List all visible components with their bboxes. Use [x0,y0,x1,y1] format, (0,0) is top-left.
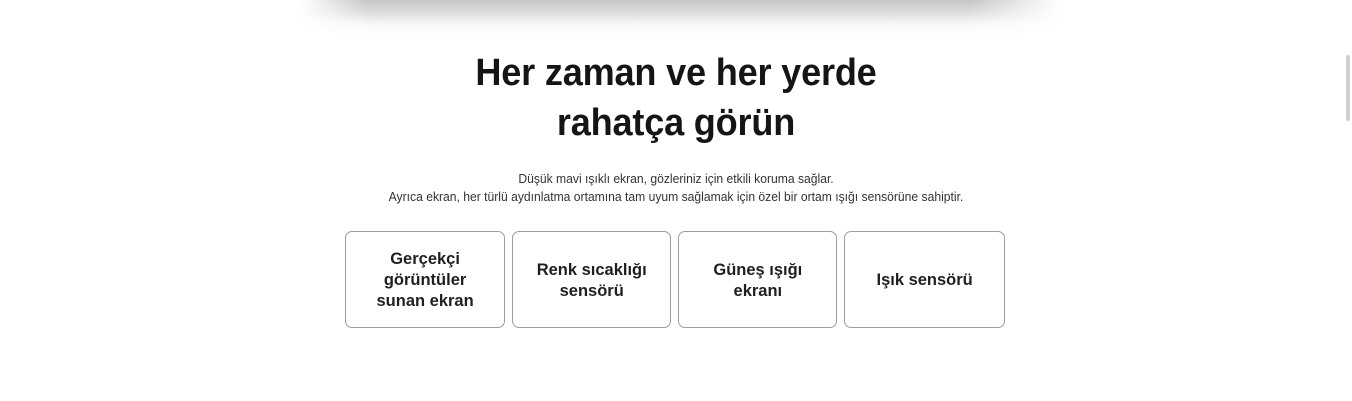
headline-line-2: rahatça görün [34,98,1318,148]
feature-card-sunlight-display[interactable]: Güneş ışığı ekranı [678,231,837,328]
feature-card-label: Güneş ışığı ekranı [713,259,802,301]
feature-card-realistic-display[interactable]: Gerçekçi görüntüler sunan ekran [345,231,505,328]
page-title: Her zaman ve her yerde rahatça görün [34,0,1318,148]
feature-card-label: Renk sıcaklığı sensörü [536,259,646,301]
feature-card-color-temperature-sensor[interactable]: Renk sıcaklığı sensörü [512,231,671,328]
subtitle-line-1: Düşük mavi ışıklı ekran, gözleriniz için… [20,170,1331,188]
feature-card-light-sensor[interactable]: Işık sensörü [844,231,1005,328]
hero-section: Her zaman ve her yerde rahatça görün Düş… [0,0,1352,206]
headline-line-1: Her zaman ve her yerde [34,48,1318,98]
subtitle-line-2: Ayrıca ekran, her türlü aydınlatma ortam… [20,188,1331,206]
scrollbar-thumb[interactable] [1346,55,1350,121]
feature-card-label: Gerçekçi görüntüler sunan ekran [376,248,473,311]
hero-subtitle: Düşük mavi ışıklı ekran, gözleriniz için… [20,148,1331,206]
feature-card-label: Işık sensörü [876,269,972,290]
page-scrollbar[interactable] [1344,0,1352,401]
feature-card-row: Gerçekçi görüntüler sunan ekran Renk sıc… [345,231,1005,328]
